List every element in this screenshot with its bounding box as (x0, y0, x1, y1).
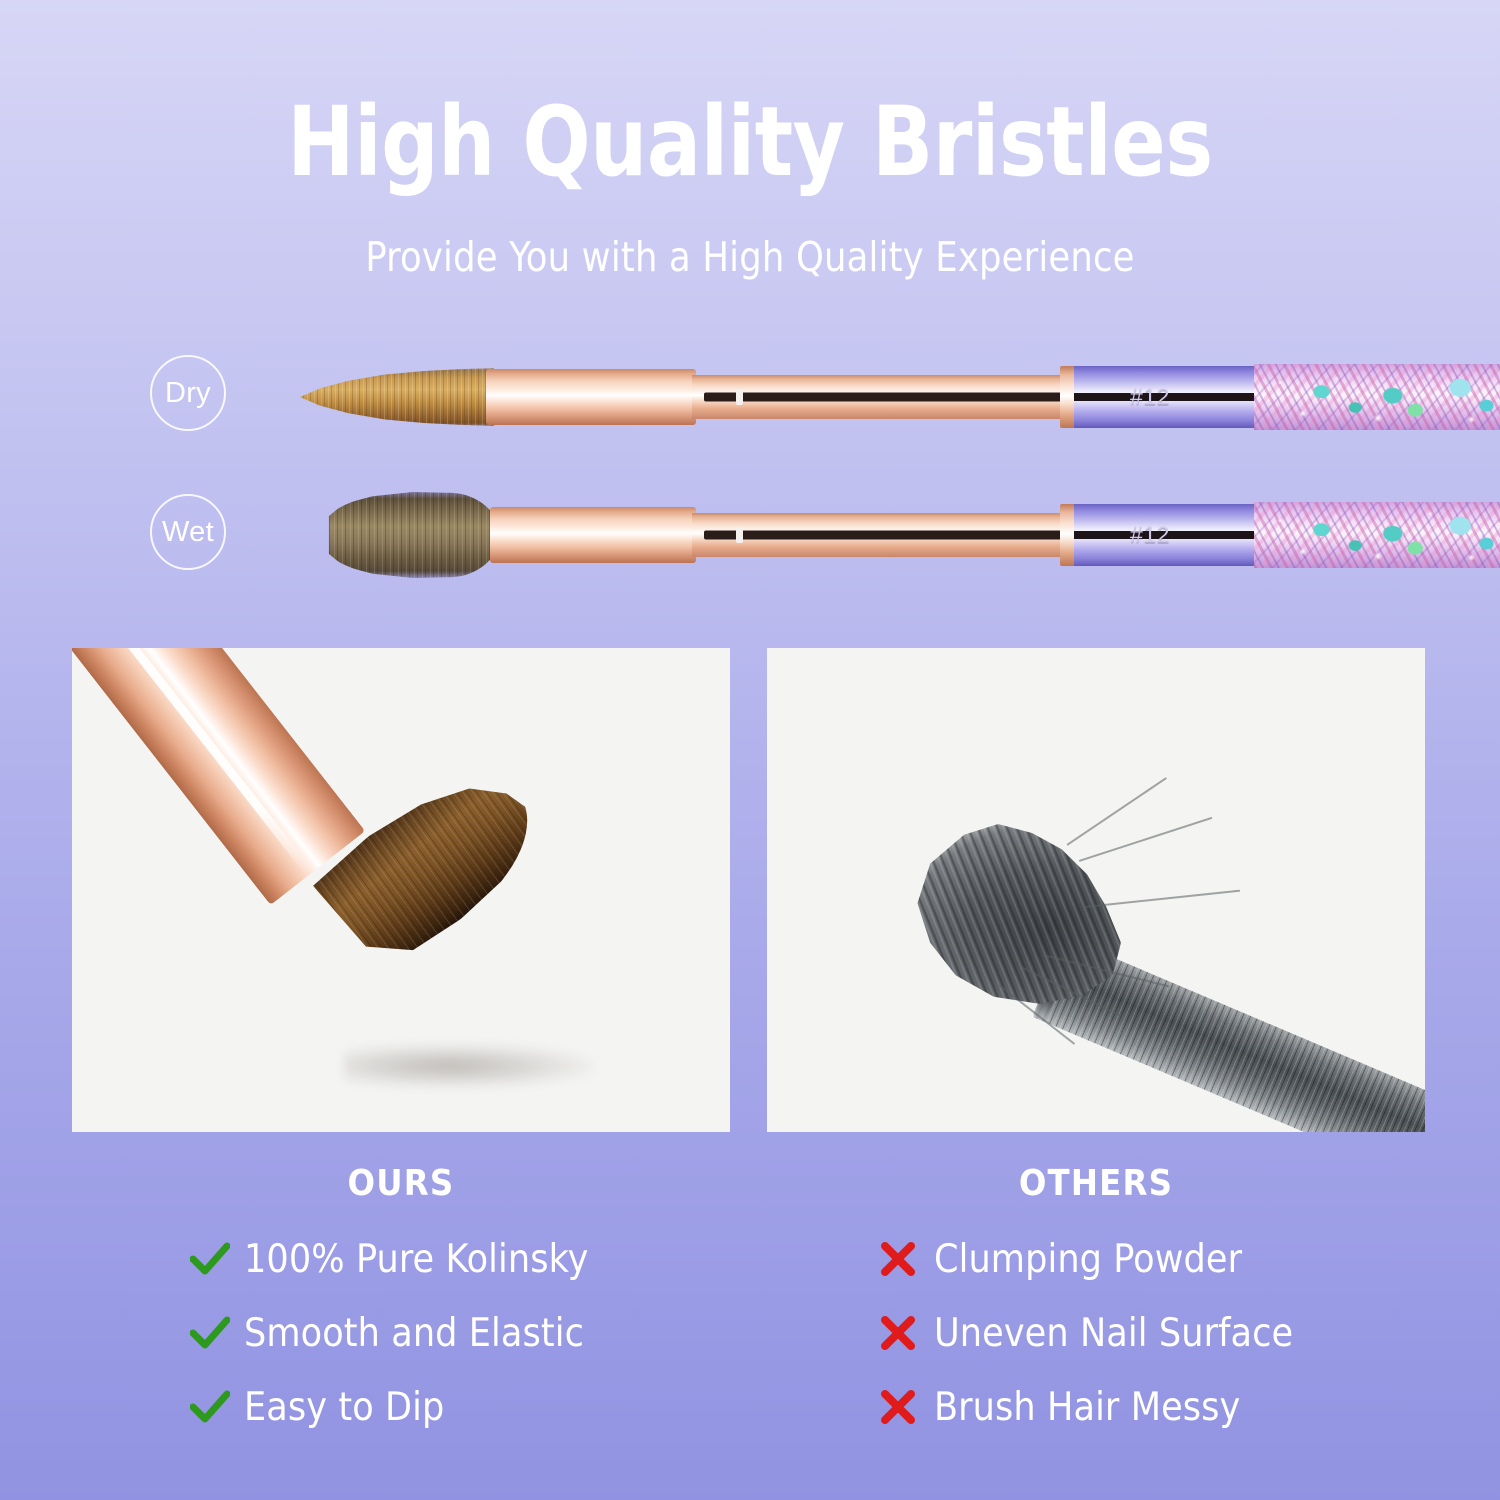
brush-glitter-barrel-dry (1254, 364, 1500, 430)
check-icon (190, 1242, 244, 1276)
state-badge-wet-label: Wet (162, 516, 214, 549)
kolinsky-bristle-head (310, 748, 557, 978)
list-item-label: Easy to Dip (244, 1385, 444, 1430)
list-item: Clumping Powder (880, 1222, 1500, 1296)
cross-icon (880, 1242, 934, 1276)
stray-hair-icon (1085, 890, 1240, 908)
ours-product-photo (72, 648, 730, 1132)
state-badge-dry-label: Dry (165, 377, 211, 410)
brush-illustration-wet: #12 (300, 475, 1405, 595)
brush-drop-shadow (344, 1044, 594, 1088)
brush-ferrule-dry (486, 369, 696, 425)
page-subtitle: Provide You with a High Quality Experien… (30, 233, 1470, 281)
list-item-label: Uneven Nail Surface (934, 1311, 1293, 1356)
list-item: Brush Hair Messy (880, 1370, 1500, 1444)
column-title-ours: OURS (251, 1163, 551, 1204)
others-product-photo (767, 648, 1425, 1132)
list-item-label: Smooth and Elastic (244, 1311, 584, 1356)
list-item-label: Clumping Powder (934, 1237, 1242, 1282)
brush-ferrule-wet (490, 507, 696, 563)
infographic-canvas: High Quality Bristles Provide You with a… (0, 0, 1500, 1500)
handle-highlight (72, 648, 314, 877)
feature-list-ours: 100% Pure Kolinsky Smooth and Elastic Ea… (190, 1222, 830, 1444)
brush-size-label-dry: #12 (1130, 384, 1170, 411)
cross-icon (880, 1316, 934, 1350)
messy-bristle-tuft (909, 824, 1121, 1004)
brush-bristles-dry-icon (300, 366, 500, 428)
brush-crimp-slot-wet (704, 531, 1062, 540)
check-icon (190, 1316, 244, 1350)
page-title: High Quality Bristles (53, 92, 1448, 193)
brush-crimp-dot-wet (736, 527, 743, 543)
check-icon (190, 1390, 244, 1424)
list-item-label: Brush Hair Messy (934, 1385, 1240, 1430)
list-item: 100% Pure Kolinsky (190, 1222, 830, 1296)
brush-crimp-slot-dry (704, 393, 1062, 402)
column-title-others: OTHERS (946, 1163, 1246, 1204)
rose-gold-handle (72, 648, 365, 905)
state-badge-wet: Wet (150, 494, 226, 570)
feature-list-others: Clumping Powder Uneven Nail Surface Brus… (880, 1222, 1500, 1444)
brush-crimp-dot-dry (736, 389, 743, 405)
cross-icon (880, 1390, 934, 1424)
list-item: Uneven Nail Surface (880, 1296, 1500, 1370)
brush-bristles-wet-icon (318, 492, 500, 578)
brush-size-label-wet: #12 (1130, 522, 1170, 549)
state-badge-dry: Dry (150, 355, 226, 431)
brush-glitter-barrel-wet (1254, 502, 1500, 568)
list-item: Smooth and Elastic (190, 1296, 830, 1370)
brush-illustration-dry: #12 (300, 337, 1405, 457)
list-item: Easy to Dip (190, 1370, 830, 1444)
list-item-label: 100% Pure Kolinsky (244, 1237, 588, 1282)
